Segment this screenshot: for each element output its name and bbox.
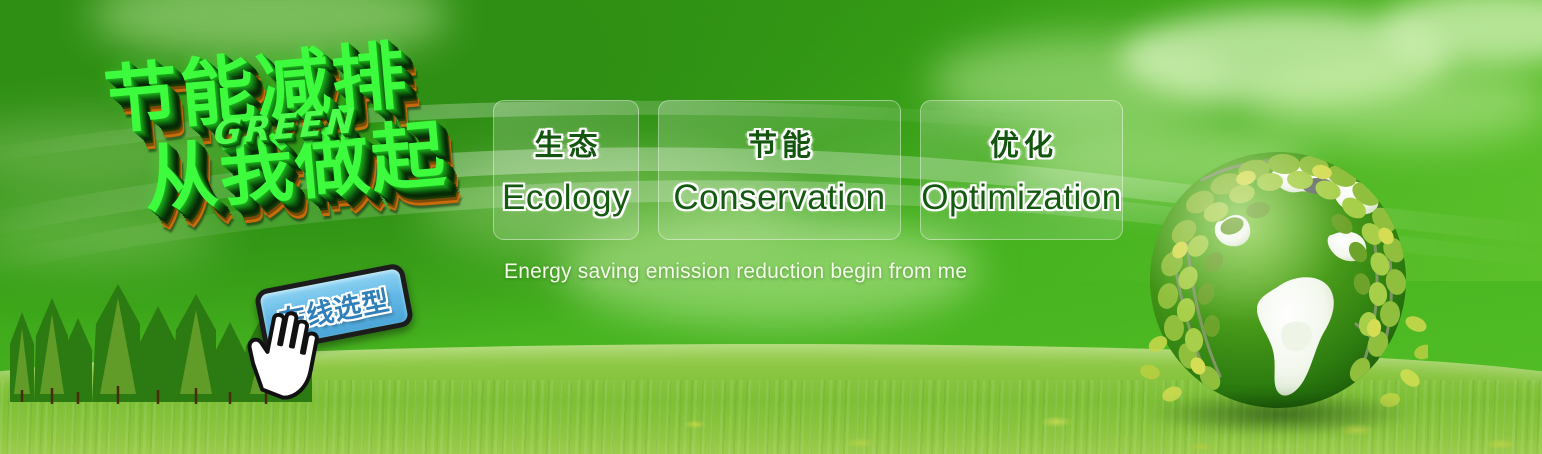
feature-card-conservation[interactable]: 节能 Conservation (658, 100, 901, 240)
banner-tagline: Energy saving emission reduction begin f… (504, 260, 967, 284)
feature-card-title-en: Ecology (502, 178, 630, 218)
feature-card-title-cn: 节能 (743, 122, 816, 164)
feature-card-title-cn: 生态 (529, 122, 602, 164)
feature-card-list: 生态 Ecology 节能 Conservation 优化 Optimizati… (493, 100, 1123, 240)
globe-shadow (1146, 392, 1414, 436)
feature-card-title-en: Conservation (673, 178, 885, 218)
feature-card-optimization[interactable]: 优化 Optimization (920, 100, 1123, 240)
leaf-covered-globe-icon (1128, 128, 1428, 428)
promo-banner: 节能减排 GREEN 从我做起 在线选型 生态 Ecology 节能 Conse… (0, 0, 1542, 454)
headline-3d-graphic: 节能减排 GREEN 从我做起 (87, 19, 516, 289)
feature-card-title-cn: 优化 (985, 122, 1058, 164)
feature-card-title-en: Optimization (921, 178, 1122, 218)
feature-card-ecology[interactable]: 生态 Ecology (493, 100, 639, 240)
